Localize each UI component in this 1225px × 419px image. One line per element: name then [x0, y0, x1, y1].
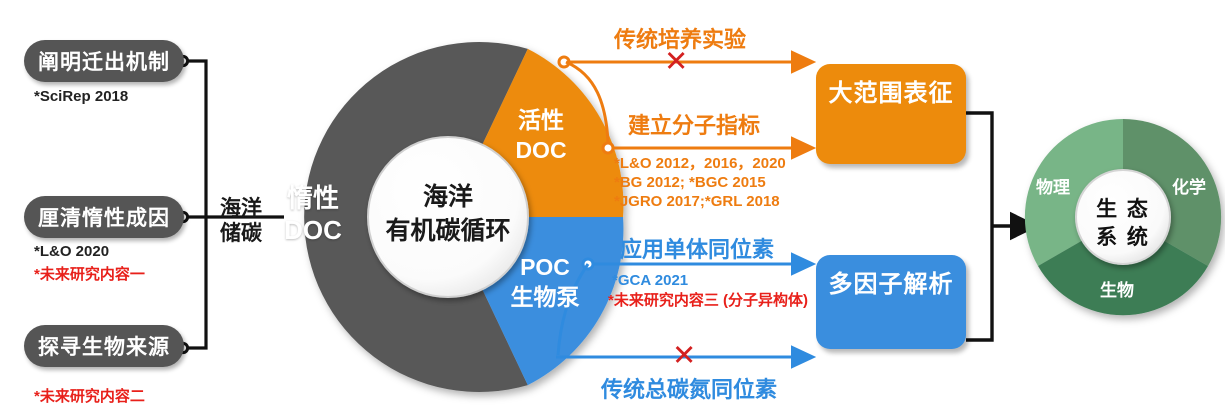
citation-jgro-grl: *JGRO 2017;*GRL 2018	[614, 192, 780, 211]
donut-core-line1: 海洋	[373, 180, 523, 214]
donut-label-labile-doc-line1: 活性	[495, 105, 587, 135]
note-scirep-2018: *SciRep 2018	[34, 88, 128, 105]
flow-caption-establish-molecular-index: 建立分子指标	[628, 108, 760, 140]
diagram-canvas: 阐明迁出机制 *SciRep 2018 厘清惰性成因 *L&O 2020 *未来…	[0, 0, 1225, 419]
eco-label-physics: 物理	[1036, 173, 1070, 198]
flow-caption-compound-specific-isotope: 应用单体同位素	[620, 232, 774, 264]
pill-label: 阐明迁出机制	[38, 46, 170, 76]
blocked-mark-orange: ✕	[664, 48, 688, 77]
donut-label-labile-doc-line2: DOC	[495, 135, 587, 165]
citation-lo-series: *L&O 2012，2016，2020	[614, 154, 786, 173]
note-future-research-two: *未来研究内容二	[34, 385, 145, 406]
result-box-title: 多因子解析	[829, 264, 954, 299]
pill-clarify-inertness-cause[interactable]: 厘清惰性成因	[24, 196, 184, 238]
note-future-research-one: *未来研究内容一	[34, 263, 145, 284]
note-lo-2020: *L&O 2020	[34, 243, 109, 260]
result-box-multifactor-analysis[interactable]: 多因子解析	[816, 255, 966, 349]
pill-clarify-export-mechanism[interactable]: 阐明迁出机制	[24, 40, 184, 82]
pill-label: 厘清惰性成因	[38, 202, 170, 232]
donut-label-poc-pump-line1: POC	[497, 252, 593, 282]
pill-label: 探寻生物来源	[38, 331, 170, 361]
flow-caption-bulk-cn-isotope: 传统总碳氮同位素	[601, 372, 777, 404]
donut-label-labile-doc: 活性 DOC	[495, 105, 587, 165]
ecosystem-core-line1: 生 态	[1080, 196, 1166, 224]
donut-label-inert-doc: 惰性 DOC	[258, 182, 368, 246]
citation-gca-2021: *GCA 2021	[612, 271, 688, 290]
donut-label-inert-doc-line2: DOC	[258, 214, 368, 246]
ecosystem-core-line2: 系 统	[1080, 224, 1166, 252]
donut-core-line2: 有机碳循环	[373, 214, 523, 248]
note-future-research-three: *未来研究内容三 (分子异构体)	[608, 291, 808, 310]
eco-label-chemistry: 化学	[1172, 173, 1206, 198]
right-connector-bracket	[966, 113, 1032, 340]
blocked-mark-blue: ✕	[672, 342, 696, 371]
pill-explore-biological-source[interactable]: 探寻生物来源	[24, 325, 184, 367]
flow-orange-mid-node	[603, 143, 613, 153]
donut-core-label: 海洋 有机碳循环	[373, 180, 523, 248]
eco-label-biology: 生物	[1100, 276, 1134, 301]
donut-label-inert-doc-line1: 惰性	[258, 182, 368, 214]
donut-label-poc-pump: POC 生物泵	[497, 252, 593, 312]
ecosystem-core-label: 生 态 系 统	[1080, 196, 1166, 252]
citation-bg-bgc: *BG 2012; *BGC 2015	[614, 173, 766, 192]
result-box-title: 大范围表征	[829, 73, 954, 108]
result-box-large-scale-characterization[interactable]: 大范围表征	[816, 64, 966, 164]
donut-label-poc-pump-line2: 生物泵	[497, 282, 593, 312]
